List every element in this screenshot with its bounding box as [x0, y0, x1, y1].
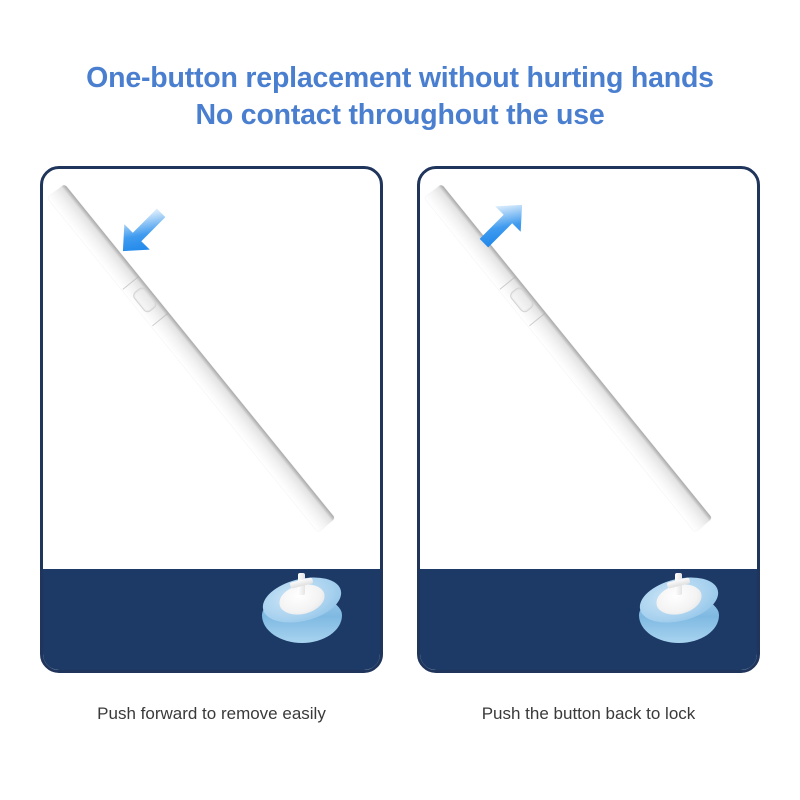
arrow-up-left-icon — [472, 193, 534, 255]
mop-handle-icon — [47, 184, 335, 532]
panel-captions: Push forward to remove easily Push the b… — [40, 702, 760, 732]
headline-line-2: No contact throughout the use — [0, 97, 800, 134]
illustration-panels — [40, 166, 760, 676]
release-button-icon — [131, 285, 158, 314]
mop-assembly — [43, 169, 380, 670]
mop-handle-icon — [424, 184, 712, 532]
release-button-icon — [508, 285, 535, 314]
handle-seam-lower — [529, 313, 545, 326]
headline-line-1: One-button replacement without hurting h… — [0, 60, 800, 97]
mop-head-pad-icon — [260, 571, 346, 657]
handle-seam-upper — [122, 276, 138, 289]
caption-lock: Push the button back to lock — [417, 702, 760, 732]
handle-seam-lower — [152, 313, 168, 326]
panel-lock — [417, 166, 760, 673]
handle-seam-upper — [499, 276, 515, 289]
page-title: One-button replacement without hurting h… — [0, 60, 800, 134]
panel-remove — [40, 166, 383, 673]
mop-assembly — [420, 169, 757, 670]
arrow-down-right-icon — [111, 201, 173, 263]
caption-remove: Push forward to remove easily — [40, 702, 383, 732]
mop-head-pad-icon — [637, 571, 723, 657]
handle-shading — [61, 184, 335, 521]
